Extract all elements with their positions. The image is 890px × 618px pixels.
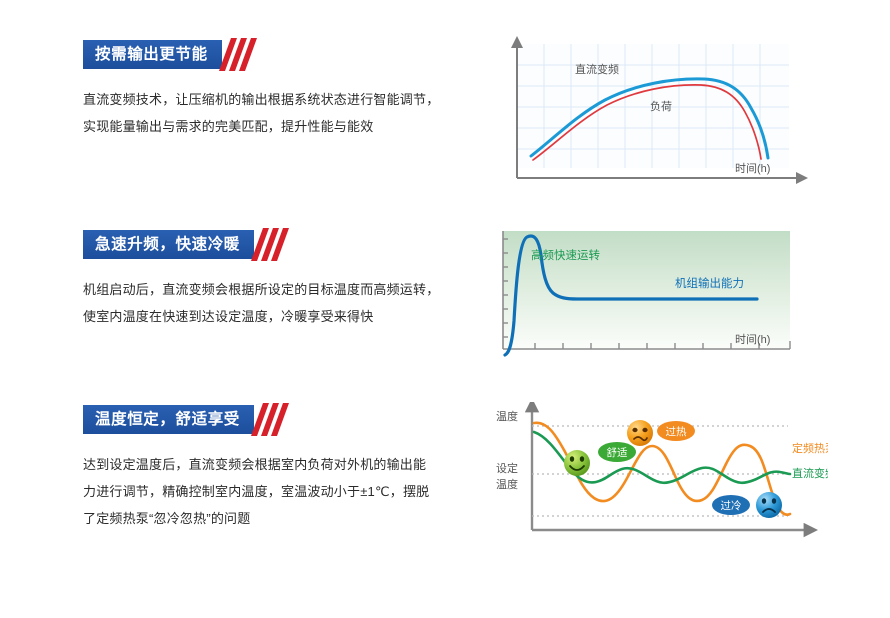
feature-heading-title: 按需输出更节能 [83,40,222,69]
feature-description-line: 使室内温度在快速到达设定温度，冷暖享受来得快 [83,303,443,330]
chart-legend-fixed-frequency: 定频热泵 [792,441,828,455]
chart-panel-background [503,231,790,349]
triple-slash-icon [251,230,293,259]
chart-annotation-high-frequency: 高频快速运转 [531,248,600,262]
feature-description-line: 达到设定温度后，直流变频会根据室内负荷对外机的输出能 [83,451,443,478]
chart-annotation-output-capacity: 机组输出能力 [675,276,744,290]
feature-description: 达到设定温度后，直流变频会根据室内负荷对外机的输出能 力进行调节，精确控制室内温… [83,451,443,532]
feature-text-column: 温度恒定，舒适享受 达到设定温度后，直流变频会根据室内负荷对外机的输出能 力进行… [83,405,443,532]
chart-x-axis-label: 时间(h) [735,162,770,175]
chart-ylabel-temperature: 温度 [496,409,518,423]
marker-comfort-label: 舒适 [607,446,628,459]
feature-heading-badge: 温度恒定，舒适享受 [83,405,293,434]
feature-description-line: 了定频热泵“忽冷忽热”的问题 [83,505,443,532]
marker-overheat: 过热 [627,420,695,446]
marker-overcool: 过冷 [712,492,782,518]
chart-rapid-frequency: 高频快速运转 机组输出能力 时间(h) [495,225,815,370]
feature-text-column: 急速升频，快速冷暖 机组启动后，直流变频会根据所设定的目标温度而高频运转， 使室… [83,230,443,330]
feature-heading-badge: 按需输出更节能 [83,40,261,69]
marker-overcool-label: 过冷 [721,499,742,512]
triple-slash-icon [219,40,261,69]
chart-x-axis-label: 时间(h) [735,333,770,346]
chart-annotation-inverter: 直流变频 [575,62,619,76]
chart-ylabel-setpoint-line2: 温度 [496,477,518,491]
feature-description-line: 直流变频技术，让压缩机的输出根据系统状态进行智能调节， [83,86,443,113]
chart-legend-dc-inverter: 直流变频 [792,466,828,480]
feature-heading-badge: 急速升频，快速冷暖 [83,230,293,259]
triple-slash-icon [251,405,293,434]
marker-overheat-label: 过热 [666,425,687,438]
feature-description-line: 机组启动后，直流变频会根据所设定的目标温度而高频运转， [83,276,443,303]
feature-heading-title: 急速升频，快速冷暖 [83,230,254,259]
page-root: 按需输出更节能 直流变频技术，让压缩机的输出根据系统状态进行智能调节， 实现能量… [0,0,890,618]
chart-annotation-load: 负荷 [650,99,672,113]
feature-description: 机组启动后，直流变频会根据所设定的目标温度而高频运转， 使室内温度在快速到达设定… [83,276,443,330]
feature-description-line: 力进行调节，精确控制室内温度，室温波动小于±1℃，摆脱 [83,478,443,505]
feature-description: 直流变频技术，让压缩机的输出根据系统状态进行智能调节， 实现能量输出与需求的完美… [83,86,443,140]
feature-text-column: 按需输出更节能 直流变频技术，让压缩机的输出根据系统状态进行智能调节， 实现能量… [83,40,443,140]
feature-heading-title: 温度恒定，舒适享受 [83,405,254,434]
chart-energy-on-demand: 直流变频 负荷 时间(h) [495,32,815,217]
marker-comfort: 舒适 [564,442,636,476]
chart-constant-temperature: 温度 设定 温度 舒适 过热 [488,402,828,547]
chart-ylabel-setpoint-line1: 设定 [496,461,518,475]
feature-description-line: 实现能量输出与需求的完美匹配，提升性能与能效 [83,113,443,140]
